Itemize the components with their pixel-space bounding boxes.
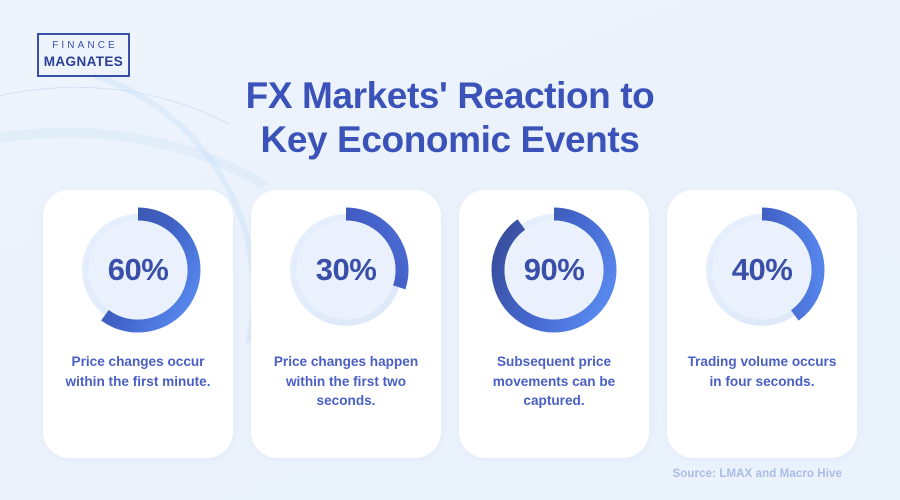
source-attribution: Source: LMAX and Macro Hive [673,468,842,480]
donut-percent-label: 30% [282,206,410,334]
donut-chart: 90% [490,206,618,334]
page-title: FX Markets' Reaction to Key Economic Eve… [0,74,900,161]
donut-percent-label: 90% [490,206,618,334]
page-title-line-2: Key Economic Events [0,118,900,162]
donut-chart: 40% [698,206,826,334]
stat-card: 60% Price changes occur within the first… [43,190,233,458]
stat-card-list: 60% Price changes occur within the first… [43,190,857,458]
stat-card: 30% Price changes happen within the firs… [251,190,441,458]
donut-percent-label: 40% [698,206,826,334]
stat-card-caption: Subsequent price movements can be captur… [474,352,634,411]
infographic-canvas: FINANCE MAGNATES FX Markets' Reaction to… [0,0,900,500]
donut-chart: 30% [282,206,410,334]
stat-card-caption: Trading volume occurs in four seconds. [682,352,842,391]
donut-percent-label: 60% [74,206,202,334]
brand-logo-line-finance: FINANCE [49,41,118,51]
stat-card: 90% Subsequent price movements can be ca… [459,190,649,458]
brand-logo: FINANCE MAGNATES [37,33,130,77]
donut-chart: 60% [74,206,202,334]
stat-card: 40% Trading volume occurs in four second… [667,190,857,458]
brand-logo-line-magnates: MAGNATES [44,55,123,69]
page-title-line-1: FX Markets' Reaction to [246,75,655,116]
stat-card-caption: Price changes happen within the first tw… [266,352,426,411]
stat-card-caption: Price changes occur within the first min… [58,352,218,391]
